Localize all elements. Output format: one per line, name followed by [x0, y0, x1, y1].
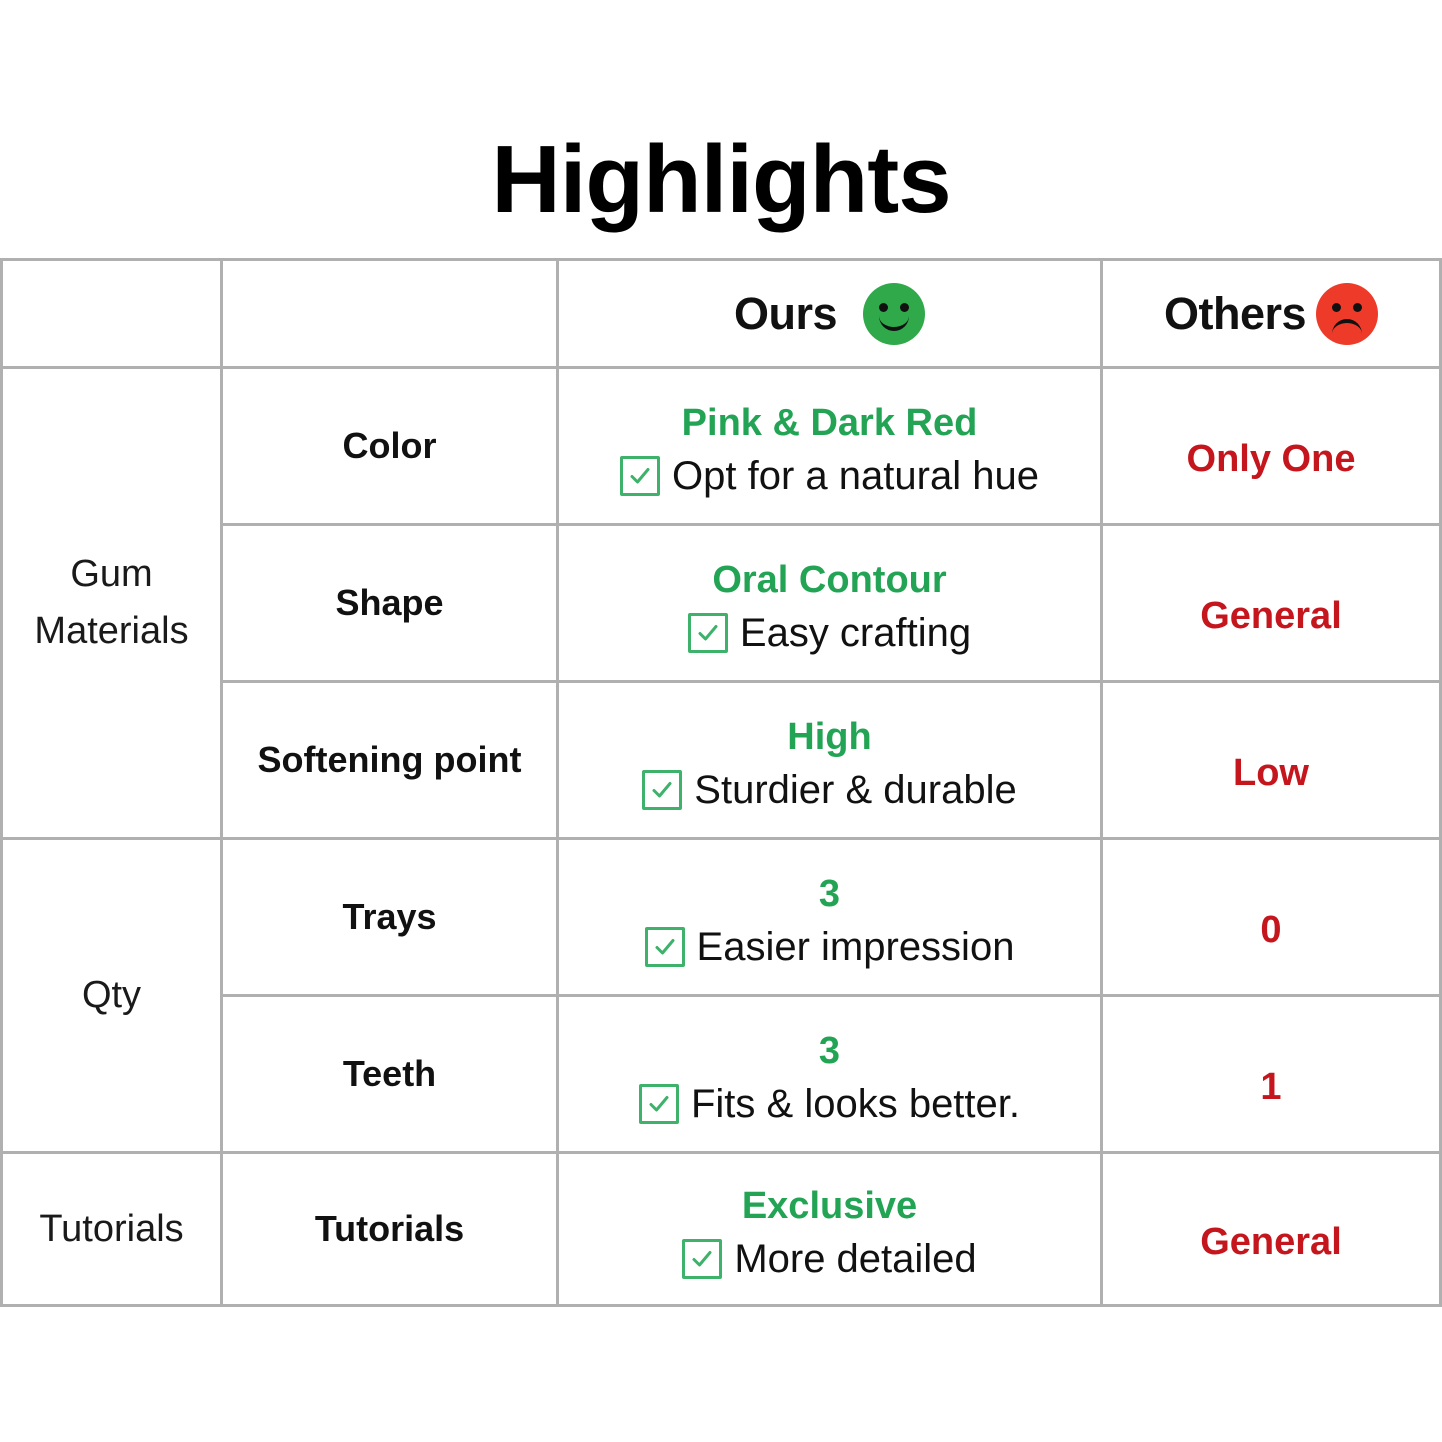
others-cell-color: Only One [1102, 368, 1441, 525]
ours-detail: Easier impression [697, 925, 1015, 969]
ours-headline: Oral Contour [559, 559, 1100, 603]
ours-cell-softening-point: High Sturdier & durable [558, 682, 1102, 839]
check-square-icon [645, 927, 685, 967]
group-label-line: Gum [3, 546, 220, 603]
attribute-label-teeth: Teeth [222, 996, 558, 1153]
page-title: Highlights [0, 132, 1442, 228]
happy-face-icon [863, 283, 925, 345]
ours-headline: 3 [559, 1030, 1100, 1074]
ours-cell-trays: 3 Easier impression [558, 839, 1102, 996]
ours-cell-teeth: 3 Fits & looks better. [558, 996, 1102, 1153]
table-header-row: Ours Others [2, 260, 1441, 368]
ours-header-label: Ours [734, 288, 837, 340]
group-label-line: Materials [3, 603, 220, 660]
others-cell-teeth: 1 [1102, 996, 1441, 1153]
attribute-label-tutorials: Tutorials [222, 1153, 558, 1306]
ours-detail: Fits & looks better. [691, 1082, 1020, 1126]
sad-face-icon [1316, 283, 1378, 345]
header-cell-others: Others [1102, 260, 1441, 368]
check-square-icon [642, 770, 682, 810]
page-root: Highlights Ours [0, 0, 1442, 1442]
ours-detail: Easy crafting [740, 611, 971, 655]
ours-cell-tutorials: Exclusive More detailed [558, 1153, 1102, 1306]
table-row: Qty Trays 3 Easier impression [2, 839, 1441, 996]
others-cell-shape: General [1102, 525, 1441, 682]
group-label-gum-materials: Gum Materials [2, 368, 222, 839]
table-row: Gum Materials Color Pink & Dark Red Opt … [2, 368, 1441, 525]
check-square-icon [639, 1084, 679, 1124]
others-value: General [1103, 594, 1439, 640]
others-header-label: Others [1164, 288, 1306, 340]
ours-headline: 3 [559, 873, 1100, 917]
ours-cell-color: Pink & Dark Red Opt for a natural hue [558, 368, 1102, 525]
header-cell-ours: Ours [558, 260, 1102, 368]
others-value: 0 [1103, 908, 1439, 954]
group-label-qty: Qty [2, 839, 222, 1153]
attribute-label-softening-point: Softening point [222, 682, 558, 839]
check-square-icon [682, 1239, 722, 1279]
header-cell-group [2, 260, 222, 368]
attribute-label-shape: Shape [222, 525, 558, 682]
ours-detail: Sturdier & durable [694, 768, 1016, 812]
others-cell-tutorials: General [1102, 1153, 1441, 1306]
ours-headline: High [559, 716, 1100, 760]
comparison-table: Ours Others [0, 258, 1442, 1307]
ours-headline: Exclusive [559, 1185, 1100, 1229]
attribute-label-trays: Trays [222, 839, 558, 996]
ours-detail: Opt for a natural hue [672, 454, 1039, 498]
check-square-icon [688, 613, 728, 653]
header-cell-attribute [222, 260, 558, 368]
check-square-icon [620, 456, 660, 496]
group-label-line: Tutorials [3, 1201, 220, 1258]
others-value: Only One [1103, 437, 1439, 483]
ours-detail: More detailed [734, 1237, 976, 1281]
others-value: General [1103, 1220, 1439, 1266]
group-label-line: Qty [3, 967, 220, 1024]
others-cell-trays: 0 [1102, 839, 1441, 996]
others-cell-softening-point: Low [1102, 682, 1441, 839]
ours-cell-shape: Oral Contour Easy crafting [558, 525, 1102, 682]
group-label-tutorials: Tutorials [2, 1153, 222, 1306]
others-value: 1 [1103, 1065, 1439, 1111]
ours-headline: Pink & Dark Red [559, 402, 1100, 446]
table-row: Tutorials Tutorials Exclusive More detai… [2, 1153, 1441, 1306]
attribute-label-color: Color [222, 368, 558, 525]
others-value: Low [1103, 751, 1439, 797]
